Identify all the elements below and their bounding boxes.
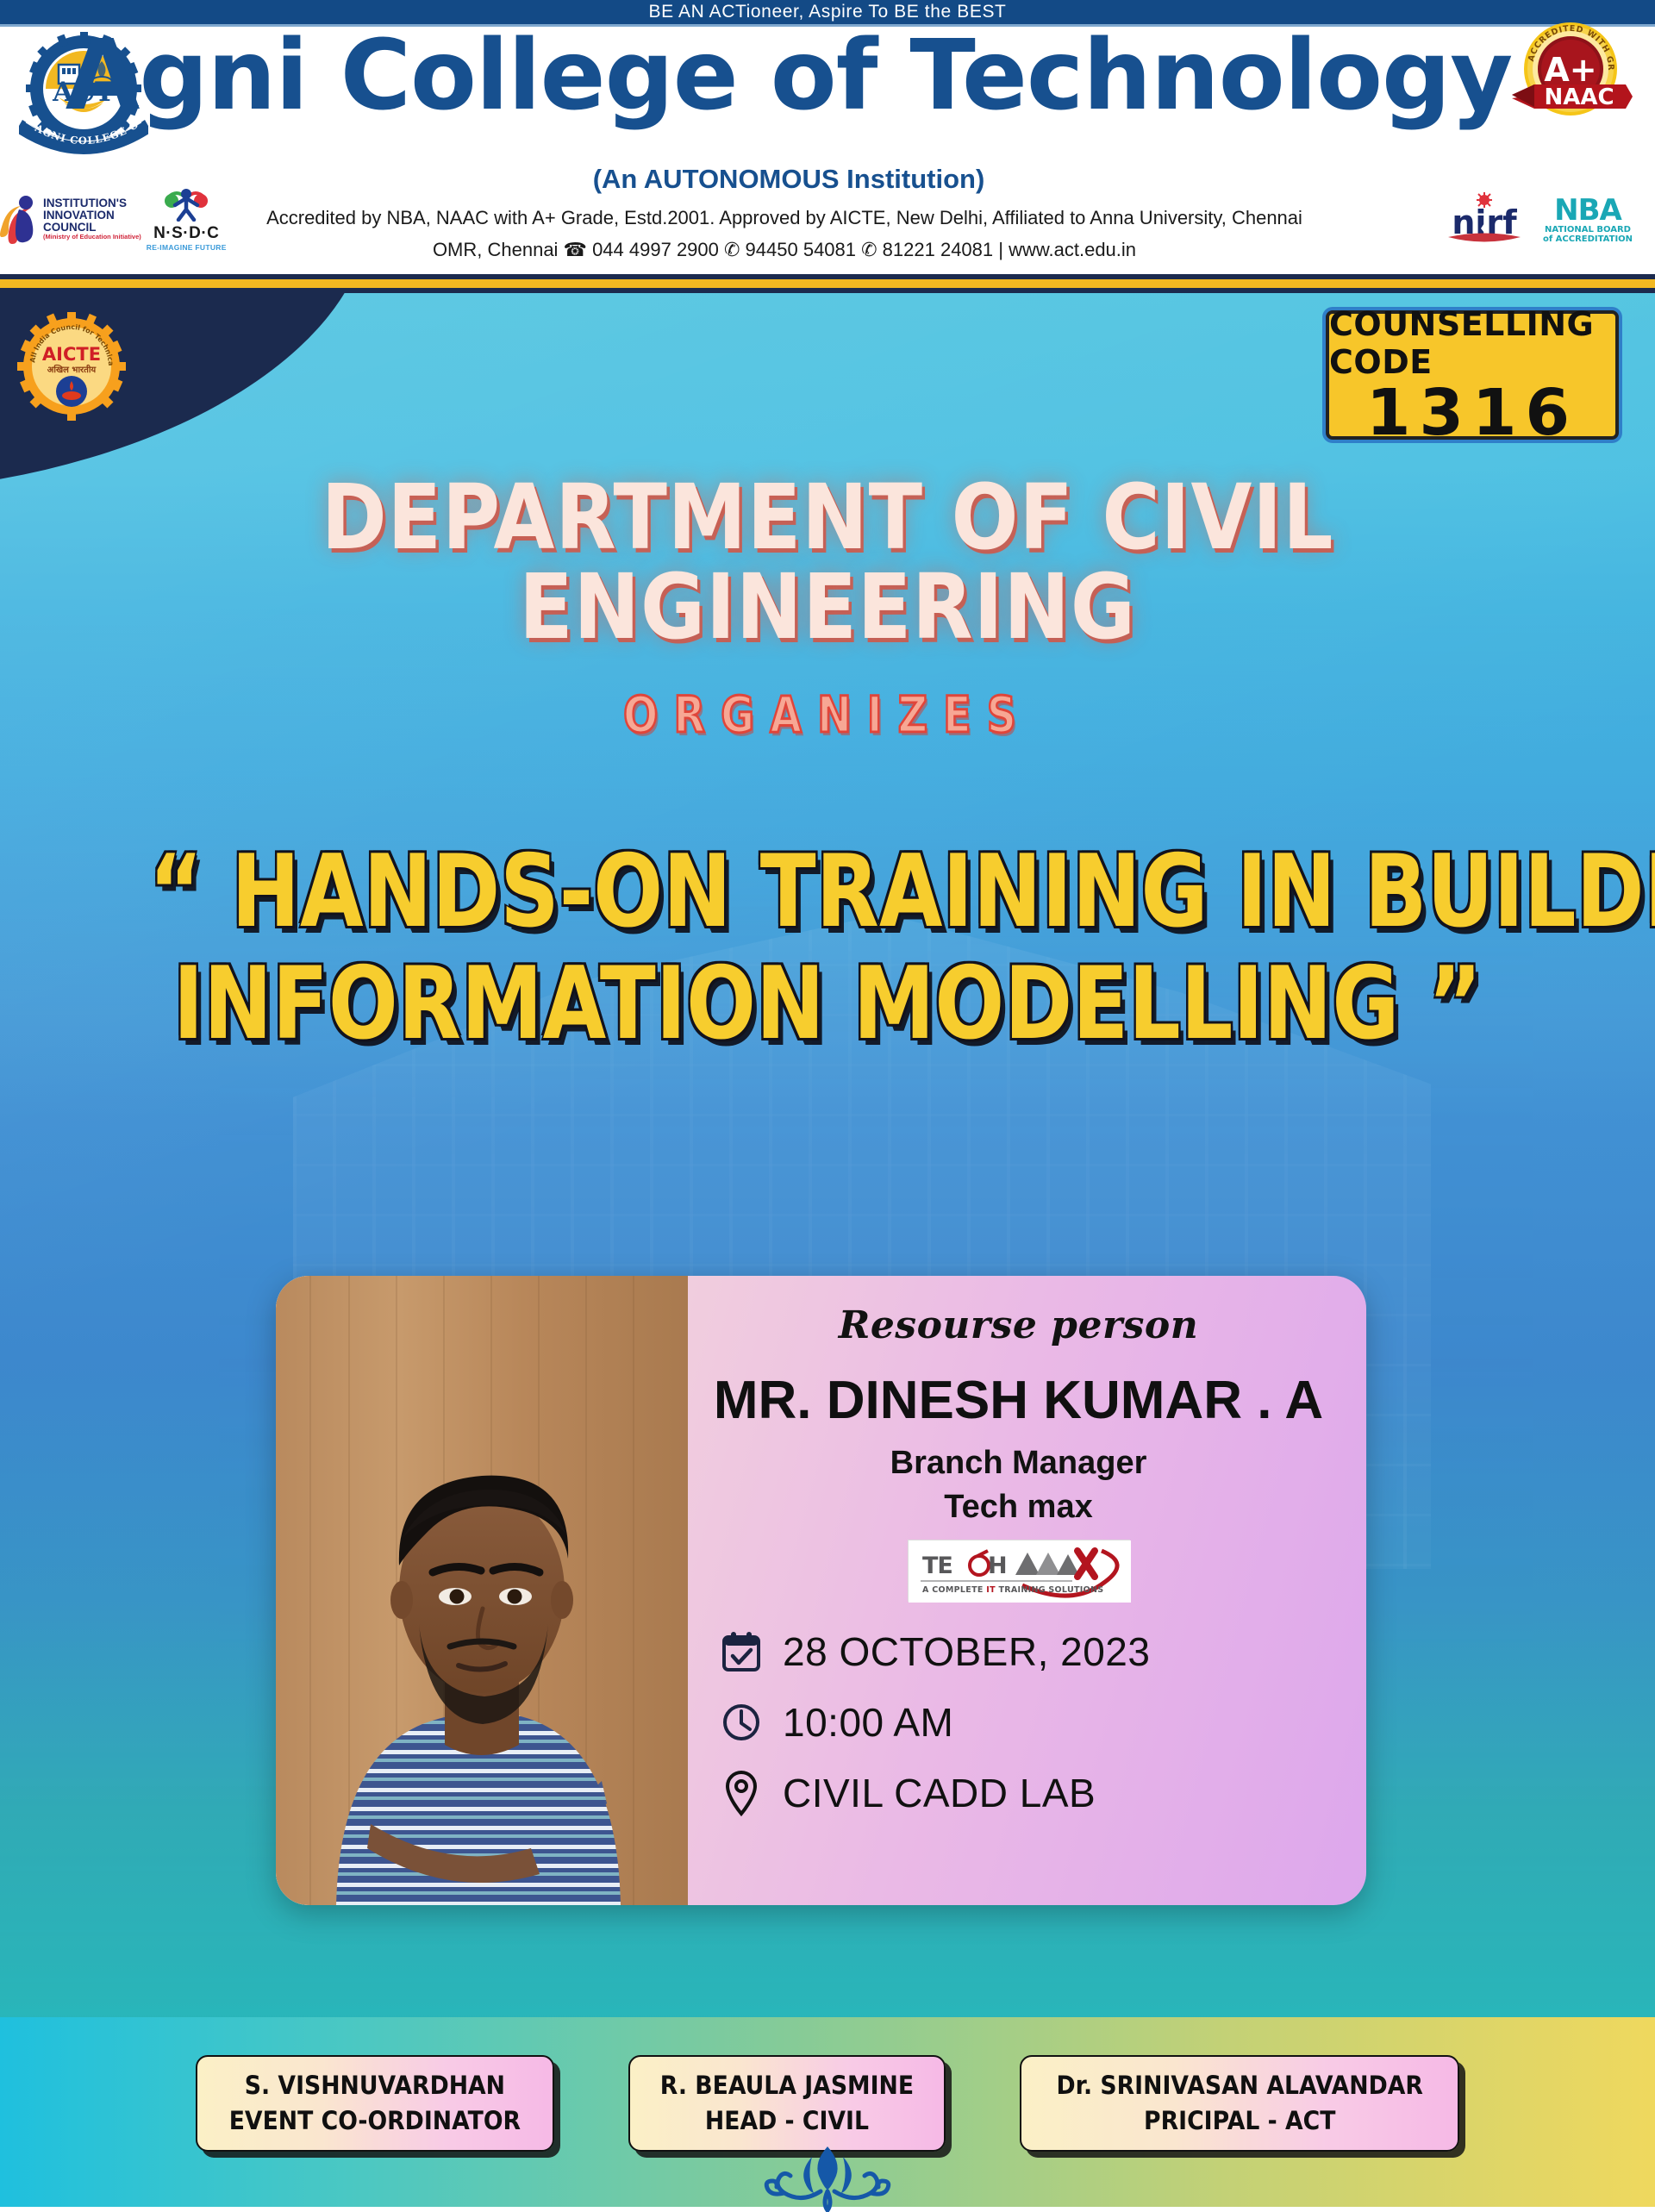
- signatory-plates: S. VISHNUVARDHAN EVENT CO-ORDINATOR R. B…: [0, 2055, 1655, 2152]
- event-title: “ HANDS-ON TRAINING IN BUILDING INFORMAT…: [149, 836, 1506, 1060]
- calendar-icon: [719, 1628, 764, 1676]
- organizes-label: ORGANIZES: [149, 690, 1506, 740]
- naac-ribbon-text: NAAC: [1544, 84, 1614, 110]
- nsdc-logo: N·S·D·C RE-IMAGINE FUTURE: [147, 187, 227, 252]
- aicte-label-text: AICTE: [42, 344, 101, 365]
- poster-body: All India Council for Technical Educatio…: [0, 293, 1655, 2017]
- nba-subtitle-1: NATIONAL BOARD: [1545, 225, 1631, 234]
- event-venue: CIVIL CADD LAB: [783, 1770, 1096, 1816]
- counselling-code-badge: COUNSELLING CODE 1316: [1326, 310, 1619, 440]
- resource-person-photo: [276, 1276, 688, 1905]
- iic-logo: INSTITUTION'S INNOVATION COUNCIL (Minist…: [0, 192, 141, 246]
- iic-subtitle: (Ministry of Education Initiative): [43, 234, 141, 241]
- gold-divider: [0, 274, 1655, 293]
- nsdc-text: N·S·D·C: [147, 224, 227, 243]
- event-details-list: 28 OCTOBER, 2023 10:00 AM: [719, 1628, 1340, 1817]
- accreditation-line-1: Accredited by NBA, NAAC with A+ Grade, E…: [121, 207, 1448, 229]
- nba-subtitle-2: of ACCREDITATION: [1543, 234, 1633, 244]
- event-date-row: 28 OCTOBER, 2023: [719, 1628, 1340, 1676]
- techmax-tagline: A COMPLETE IT TRAINING SOLUTIONS: [922, 1585, 1103, 1595]
- signatory-name: Dr. SRINIVASAN ALAVANDAR: [1056, 2068, 1422, 2103]
- counselling-code-label: COUNSELLING CODE: [1329, 305, 1615, 381]
- nsdc-subtitle: RE-IMAGINE FUTURE: [147, 243, 227, 252]
- resource-person-heading: Resourse person: [696, 1303, 1340, 1347]
- signatory-plate: Dr. SRINIVASAN ALAVANDAR PRICIPAL - ACT: [1020, 2055, 1459, 2152]
- event-time: 10:00 AM: [783, 1699, 953, 1746]
- college-name: Agni College of Technology: [168, 24, 1409, 128]
- naac-accreditation-badge: A+ ACCREDITED WITH GRADE NAAC: [1502, 19, 1639, 131]
- clock-icon: [719, 1698, 764, 1746]
- naac-grade-text: A+: [1544, 51, 1596, 89]
- iic-line-2: INNOVATION: [43, 209, 141, 222]
- signatory-role: PRICIPAL - ACT: [1056, 2103, 1422, 2139]
- signatory-role: EVENT CO-ORDINATOR: [229, 2103, 521, 2139]
- signatory-plate: S. VISHNUVARDHAN EVENT CO-ORDINATOR: [196, 2055, 554, 2152]
- autonomous-status: (An AUTONOMOUS Institution): [168, 164, 1409, 195]
- iic-line-3: COUNCIL: [43, 222, 141, 234]
- event-venue-row: CIVIL CADD LAB: [719, 1769, 1340, 1817]
- event-date: 28 OCTOBER, 2023: [783, 1628, 1150, 1675]
- ranking-logos: nirf NBA NATIONAL BOARD of ACCREDITATION: [1440, 185, 1638, 256]
- techmax-logo: TE H A COMPLETE IT TRAINING SOLUTIONS: [908, 1540, 1130, 1602]
- resource-person-role: Branch Manager: [696, 1445, 1340, 1482]
- letterhead: BE AN ACTioneer, Aspire To BE the BEST: [0, 0, 1655, 274]
- partner-logos: INSTITUTION'S INNOVATION COUNCIL (Minist…: [0, 179, 233, 259]
- signatory-name: R. BEAULA JASMINE: [660, 2068, 914, 2103]
- aicte-logo: All India Council for Technical Educatio…: [16, 310, 128, 422]
- accreditation-line-2: OMR, Chennai ☎ 044 4997 2900 ✆ 94450 540…: [121, 239, 1448, 261]
- signatory-role: HEAD - CIVIL: [660, 2103, 914, 2139]
- event-title-line-2: INFORMATION MODELLING ”: [149, 948, 1506, 1060]
- event-time-row: 10:00 AM: [719, 1698, 1340, 1746]
- resource-person-name: MR. DINESH KUMAR . A: [696, 1370, 1340, 1431]
- resource-person-card: Resourse person MR. DINESH KUMAR . A Bra…: [276, 1276, 1366, 1905]
- decorative-flourish: [0, 2143, 1655, 2212]
- techmax-tech-text: TE: [922, 1553, 952, 1579]
- svg-text:H: H: [988, 1553, 1007, 1579]
- nba-logo: NBA NATIONAL BOARD of ACCREDITATION: [1541, 192, 1634, 250]
- signatory-plate: R. BEAULA JASMINE HEAD - CIVIL: [628, 2055, 946, 2152]
- department-heading: DEPARTMENT OF CIVIL ENGINEERING: [99, 472, 1556, 652]
- resource-person-info: Resourse person MR. DINESH KUMAR . A Bra…: [688, 1276, 1366, 1905]
- resource-person-organization: Tech max: [696, 1489, 1340, 1526]
- iic-line-1: INSTITUTION'S: [43, 197, 141, 209]
- nba-text: NBA: [1554, 193, 1622, 228]
- nirf-logo: nirf: [1440, 192, 1529, 250]
- counselling-code-value: 1316: [1366, 381, 1578, 445]
- footer-band: S. VISHNUVARDHAN EVENT CO-ORDINATOR R. B…: [0, 2017, 1655, 2207]
- event-title-line-1: “ HANDS-ON TRAINING IN BUILDING: [149, 836, 1506, 948]
- location-pin-icon: [719, 1769, 764, 1817]
- svg-text:अखिल भारतीय: अखिल भारतीय: [47, 364, 97, 375]
- signatory-name: S. VISHNUVARDHAN: [229, 2068, 521, 2103]
